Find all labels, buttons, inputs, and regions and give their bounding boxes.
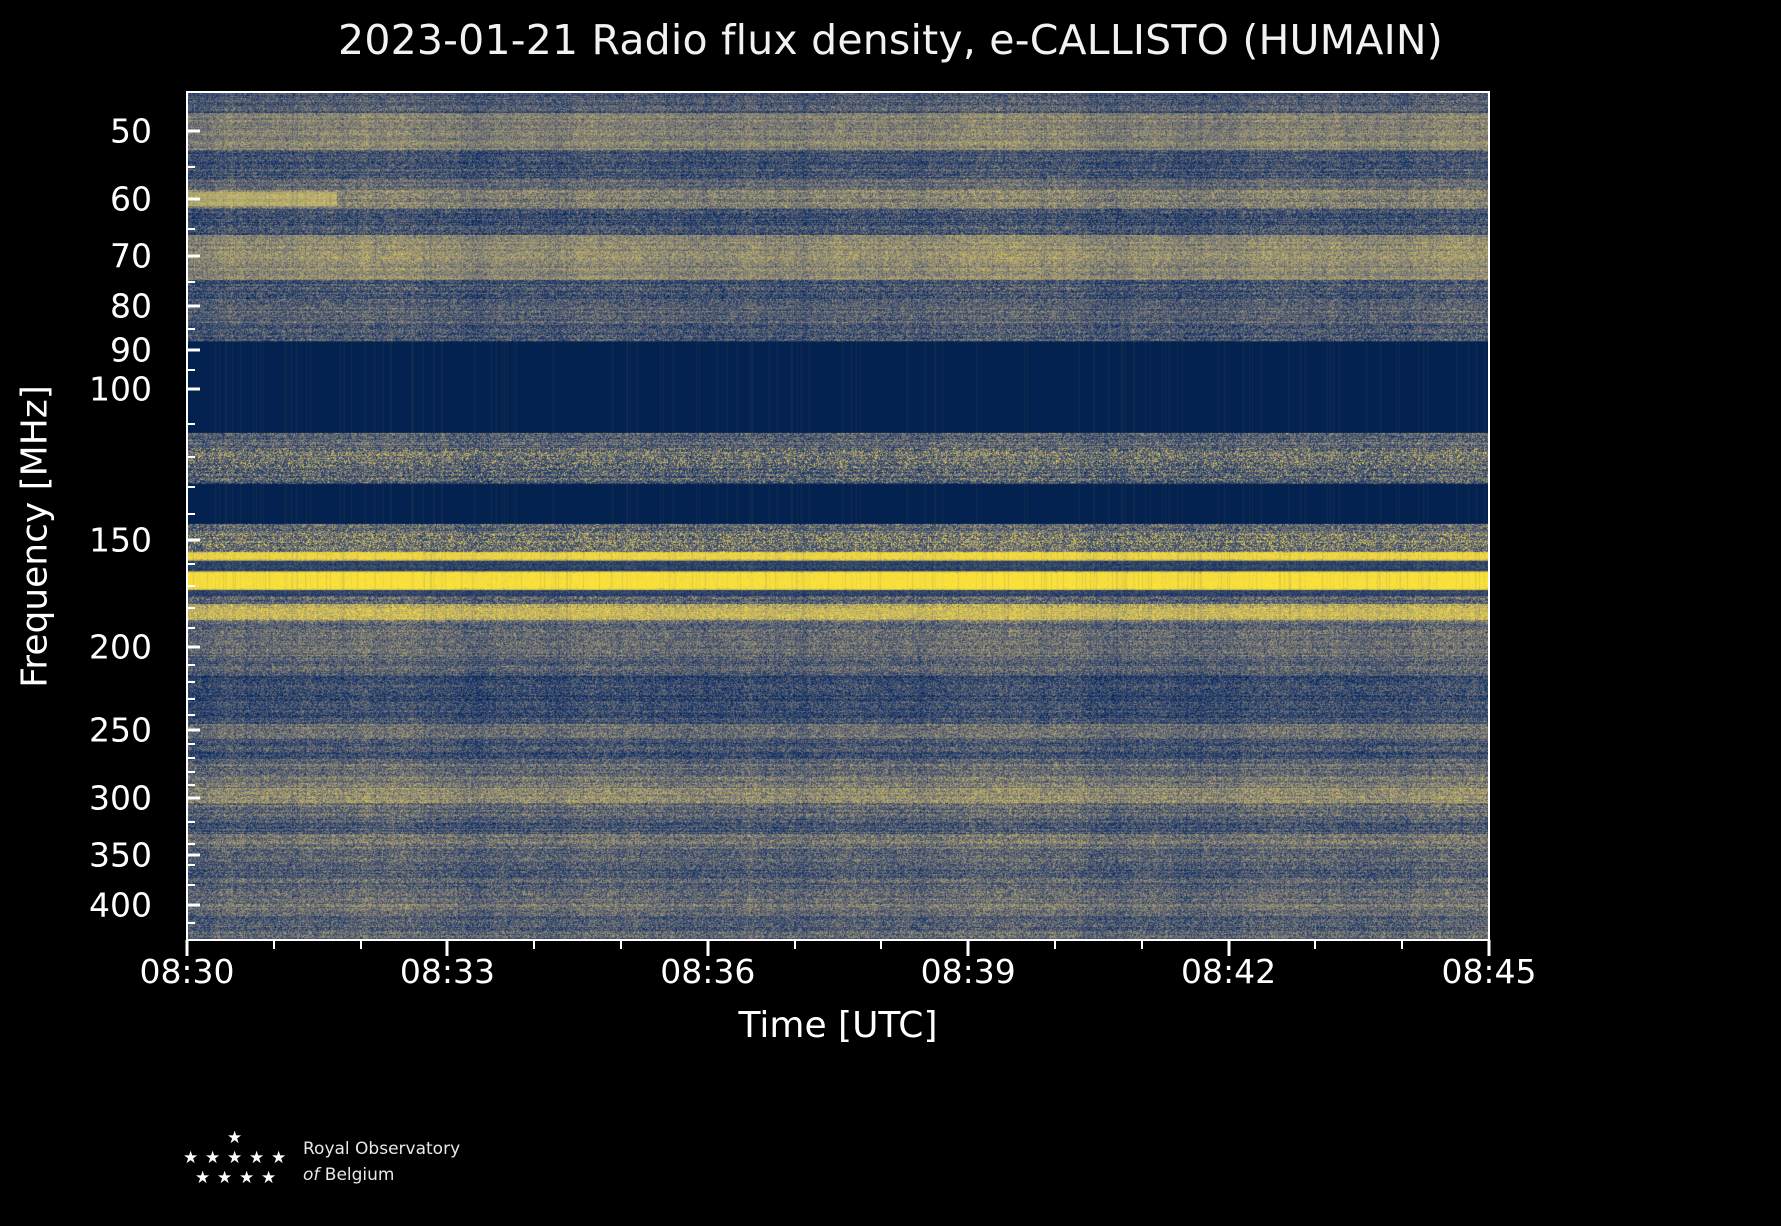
y-tick-label-70: 70 [110,237,152,276]
y-tick-mark-100 [187,387,200,390]
x-tick-minor [1141,940,1143,949]
y-tick-mark-250 [187,728,200,731]
y-tick-minor [187,513,195,515]
y-tick-label-400: 400 [89,885,152,924]
x-tick-mark [1488,940,1491,956]
x-tick-mark [446,940,449,956]
royal-observatory-logo: ★★★★★★★★★★ Royal Observatory of Belgium [175,1128,595,1200]
y-tick-label-100: 100 [89,369,152,408]
x-tick-label-08-45: 08:45 [1441,952,1536,991]
y-tick-minor [187,91,195,93]
x-tick-mark [706,940,709,956]
x-tick-label-08-33: 08:33 [400,952,495,991]
y-tick-mark-50 [187,130,200,133]
star-icon: ★ [217,1170,232,1187]
y-tick-mark-400 [187,903,200,906]
y-tick-minor [187,821,195,823]
y-tick-minor [187,607,195,609]
star-icon: ★ [183,1150,198,1167]
x-tick-minor [360,940,362,949]
y-tick-minor [187,757,195,759]
y-tick-mark-90 [187,348,200,351]
star-icon: ★ [195,1170,210,1187]
page-title: 2023-01-21 Radio flux density, e-CALLIST… [0,16,1781,64]
x-tick-label-08-30: 08:30 [139,952,234,991]
y-tick-minor [187,627,195,629]
y-tick-label-150: 150 [89,520,152,559]
y-tick-label-50: 50 [110,112,152,151]
x-tick-minor [880,940,882,949]
x-tick-minor [533,940,535,949]
x-tick-label-08-39: 08:39 [921,952,1016,991]
logo-line-1: Royal Observatory [303,1136,460,1162]
y-tick-minor [187,864,195,866]
y-tick-minor [187,228,195,230]
y-tick-minor [187,166,195,168]
x-tick-mark [967,940,970,956]
y-tick-minor [187,563,195,565]
x-tick-minor [1401,940,1403,949]
y-tick-minor [187,486,195,488]
y-tick-label-250: 250 [89,710,152,749]
y-tick-minor [187,698,195,700]
spectrogram-canvas [187,92,1489,940]
y-tick-mark-60 [187,197,200,200]
spectrogram-figure: 2023-01-21 Radio flux density, e-CALLIST… [0,0,1781,1226]
y-tick-minor [187,714,195,716]
star-icon: ★ [227,1130,242,1147]
y-tick-minor [187,922,195,924]
x-tick-label-08-36: 08:36 [660,952,755,991]
y-tick-mark-350 [187,853,200,856]
y-tick-label-60: 60 [110,179,152,218]
x-tick-minor [1314,940,1316,949]
logo-line-2: of Belgium [303,1162,460,1188]
y-tick-minor [187,281,195,283]
logo-text: Royal Observatory of Belgium [303,1136,460,1188]
y-tick-minor [187,423,195,425]
star-icon: ★ [239,1170,254,1187]
x-tick-minor [1054,940,1056,949]
y-tick-label-300: 300 [89,778,152,817]
y-tick-mark-70 [187,255,200,258]
logo-belgium: Belgium [325,1165,395,1185]
y-tick-label-350: 350 [89,835,152,874]
y-tick-minor [187,843,195,845]
y-tick-minor [187,681,195,683]
stars-icon: ★★★★★★★★★★ [175,1128,295,1200]
y-tick-mark-300 [187,796,200,799]
x-tick-label-08-42: 08:42 [1181,952,1276,991]
y-tick-minor [187,664,195,666]
x-tick-minor [620,940,622,949]
star-icon: ★ [271,1150,286,1167]
y-tick-minor [187,884,195,886]
y-tick-minor [187,784,195,786]
x-tick-minor [273,940,275,949]
y-tick-mark-150 [187,538,200,541]
x-axis-label: Time [UTC] [187,1005,1489,1046]
y-tick-label-200: 200 [89,627,152,666]
y-axis-label: Frequency [MHz] [15,137,56,937]
x-tick-mark [186,940,189,956]
x-tick-mark [1227,940,1230,956]
star-icon: ★ [205,1150,220,1167]
star-icon: ★ [249,1150,264,1167]
star-icon: ★ [227,1150,242,1167]
star-icon: ★ [261,1170,276,1187]
y-tick-mark-80 [187,304,200,307]
y-tick-minor [187,328,195,330]
y-tick-minor [187,743,195,745]
y-tick-minor [187,369,195,371]
y-tick-minor [187,456,195,458]
y-tick-label-90: 90 [110,330,152,369]
y-tick-minor [187,585,195,587]
logo-of: of [303,1165,319,1185]
x-tick-minor [794,940,796,949]
y-tick-mark-200 [187,645,200,648]
spectrogram-plot-area [187,92,1489,940]
y-tick-label-80: 80 [110,286,152,325]
y-tick-minor [187,771,195,773]
